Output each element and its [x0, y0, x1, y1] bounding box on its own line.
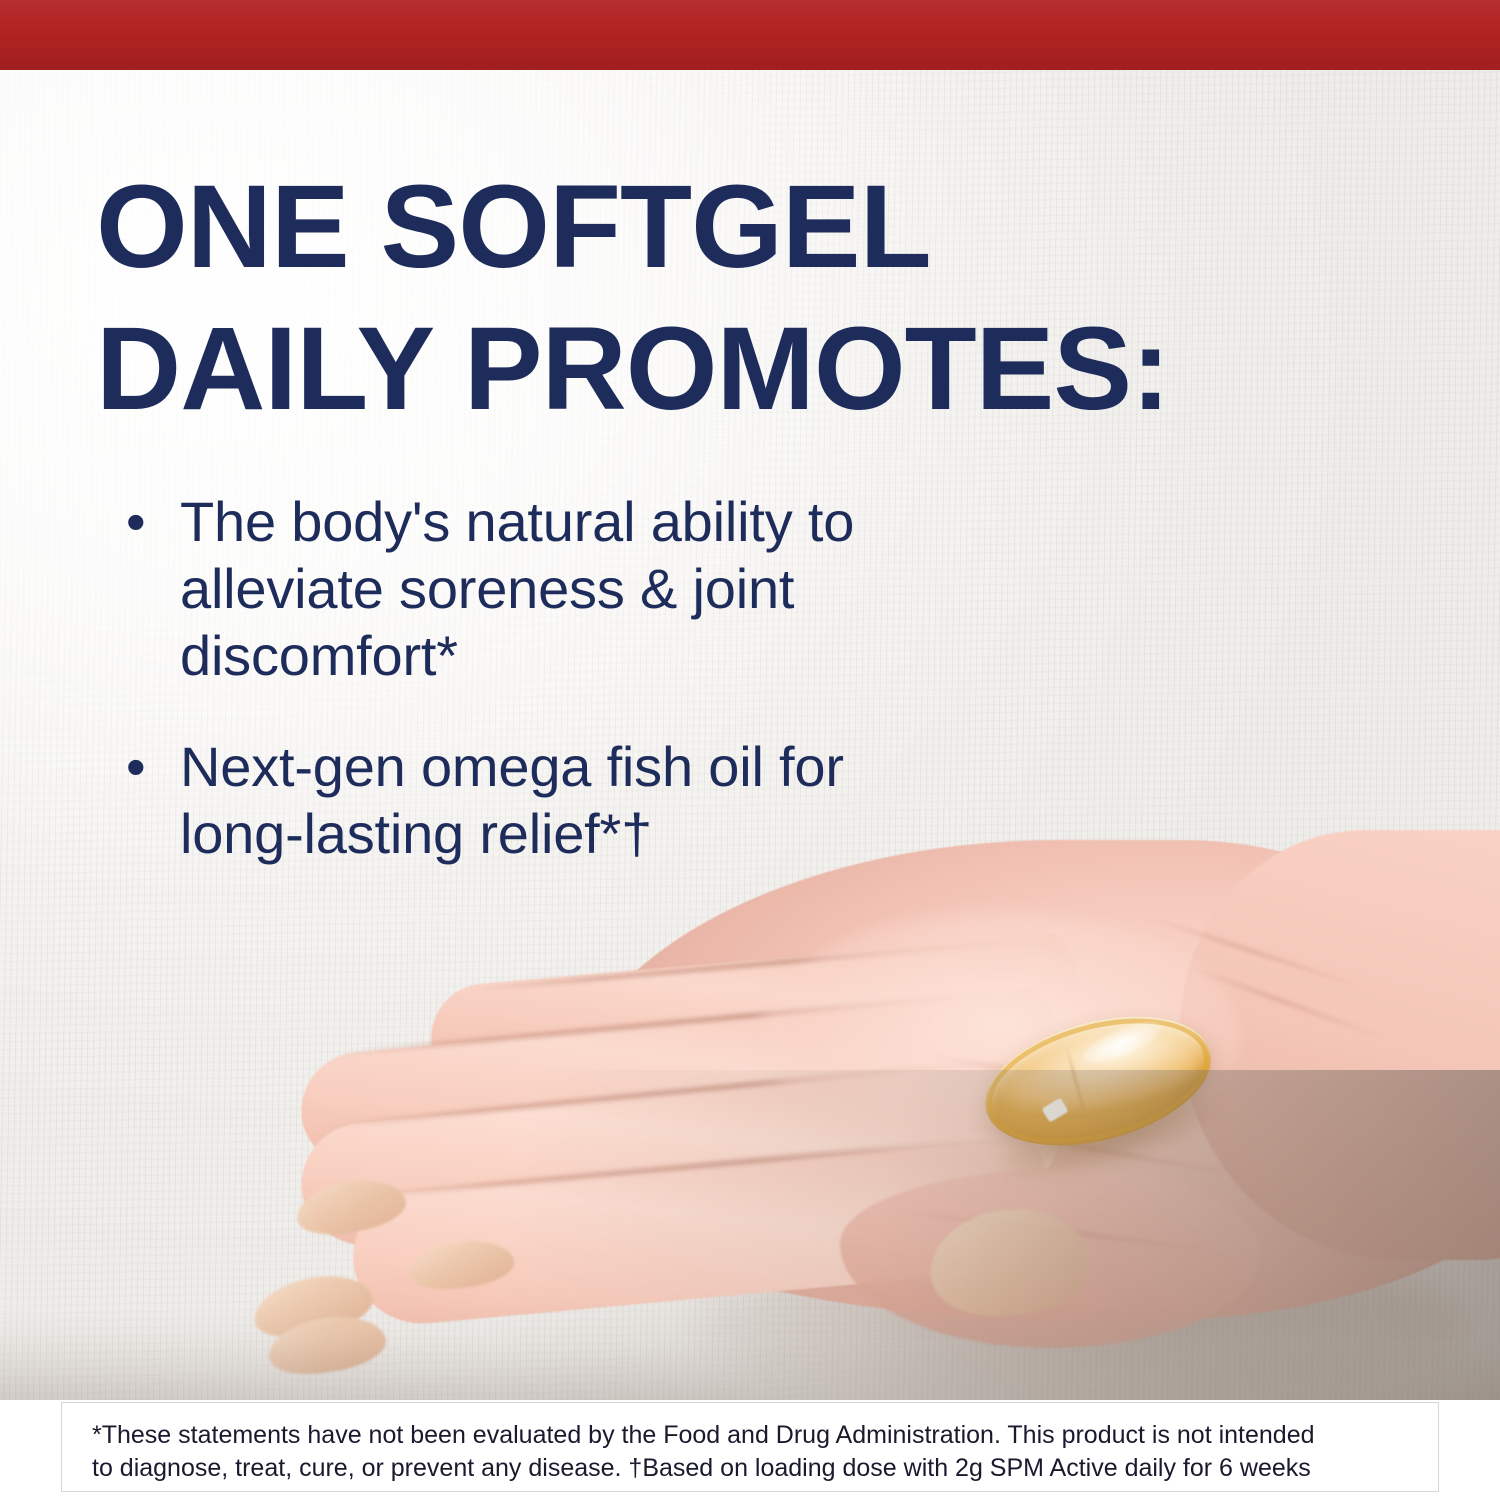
list-item: • The body's natural ability to alleviat…	[118, 488, 948, 689]
surface-shadow-bottom	[0, 1304, 1500, 1400]
page-title: ONE SOFTGEL DAILY PROMOTES:	[96, 156, 1296, 440]
bullet-dot-icon: •	[118, 488, 180, 555]
top-accent-bar	[0, 0, 1500, 70]
bullet-dot-icon: •	[118, 733, 180, 800]
benefit-list: • The body's natural ability to alleviat…	[118, 488, 948, 911]
benefit-text: Next-gen omega fish oil for long-lasting…	[180, 733, 948, 867]
product-feature-image: ONE SOFTGEL DAILY PROMOTES: • The body's…	[0, 0, 1500, 1500]
disclaimer-line-1: *These statements have not been evaluate…	[92, 1419, 1408, 1452]
disclaimer-line-2: to diagnose, treat, cure, or prevent any…	[92, 1452, 1408, 1485]
benefit-text: The body's natural ability to alleviate …	[180, 488, 948, 689]
top-accent-bar-shading	[0, 0, 1500, 70]
disclaimer-box: *These statements have not been evaluate…	[61, 1402, 1439, 1492]
list-item: • Next-gen omega fish oil for long-lasti…	[118, 733, 948, 867]
